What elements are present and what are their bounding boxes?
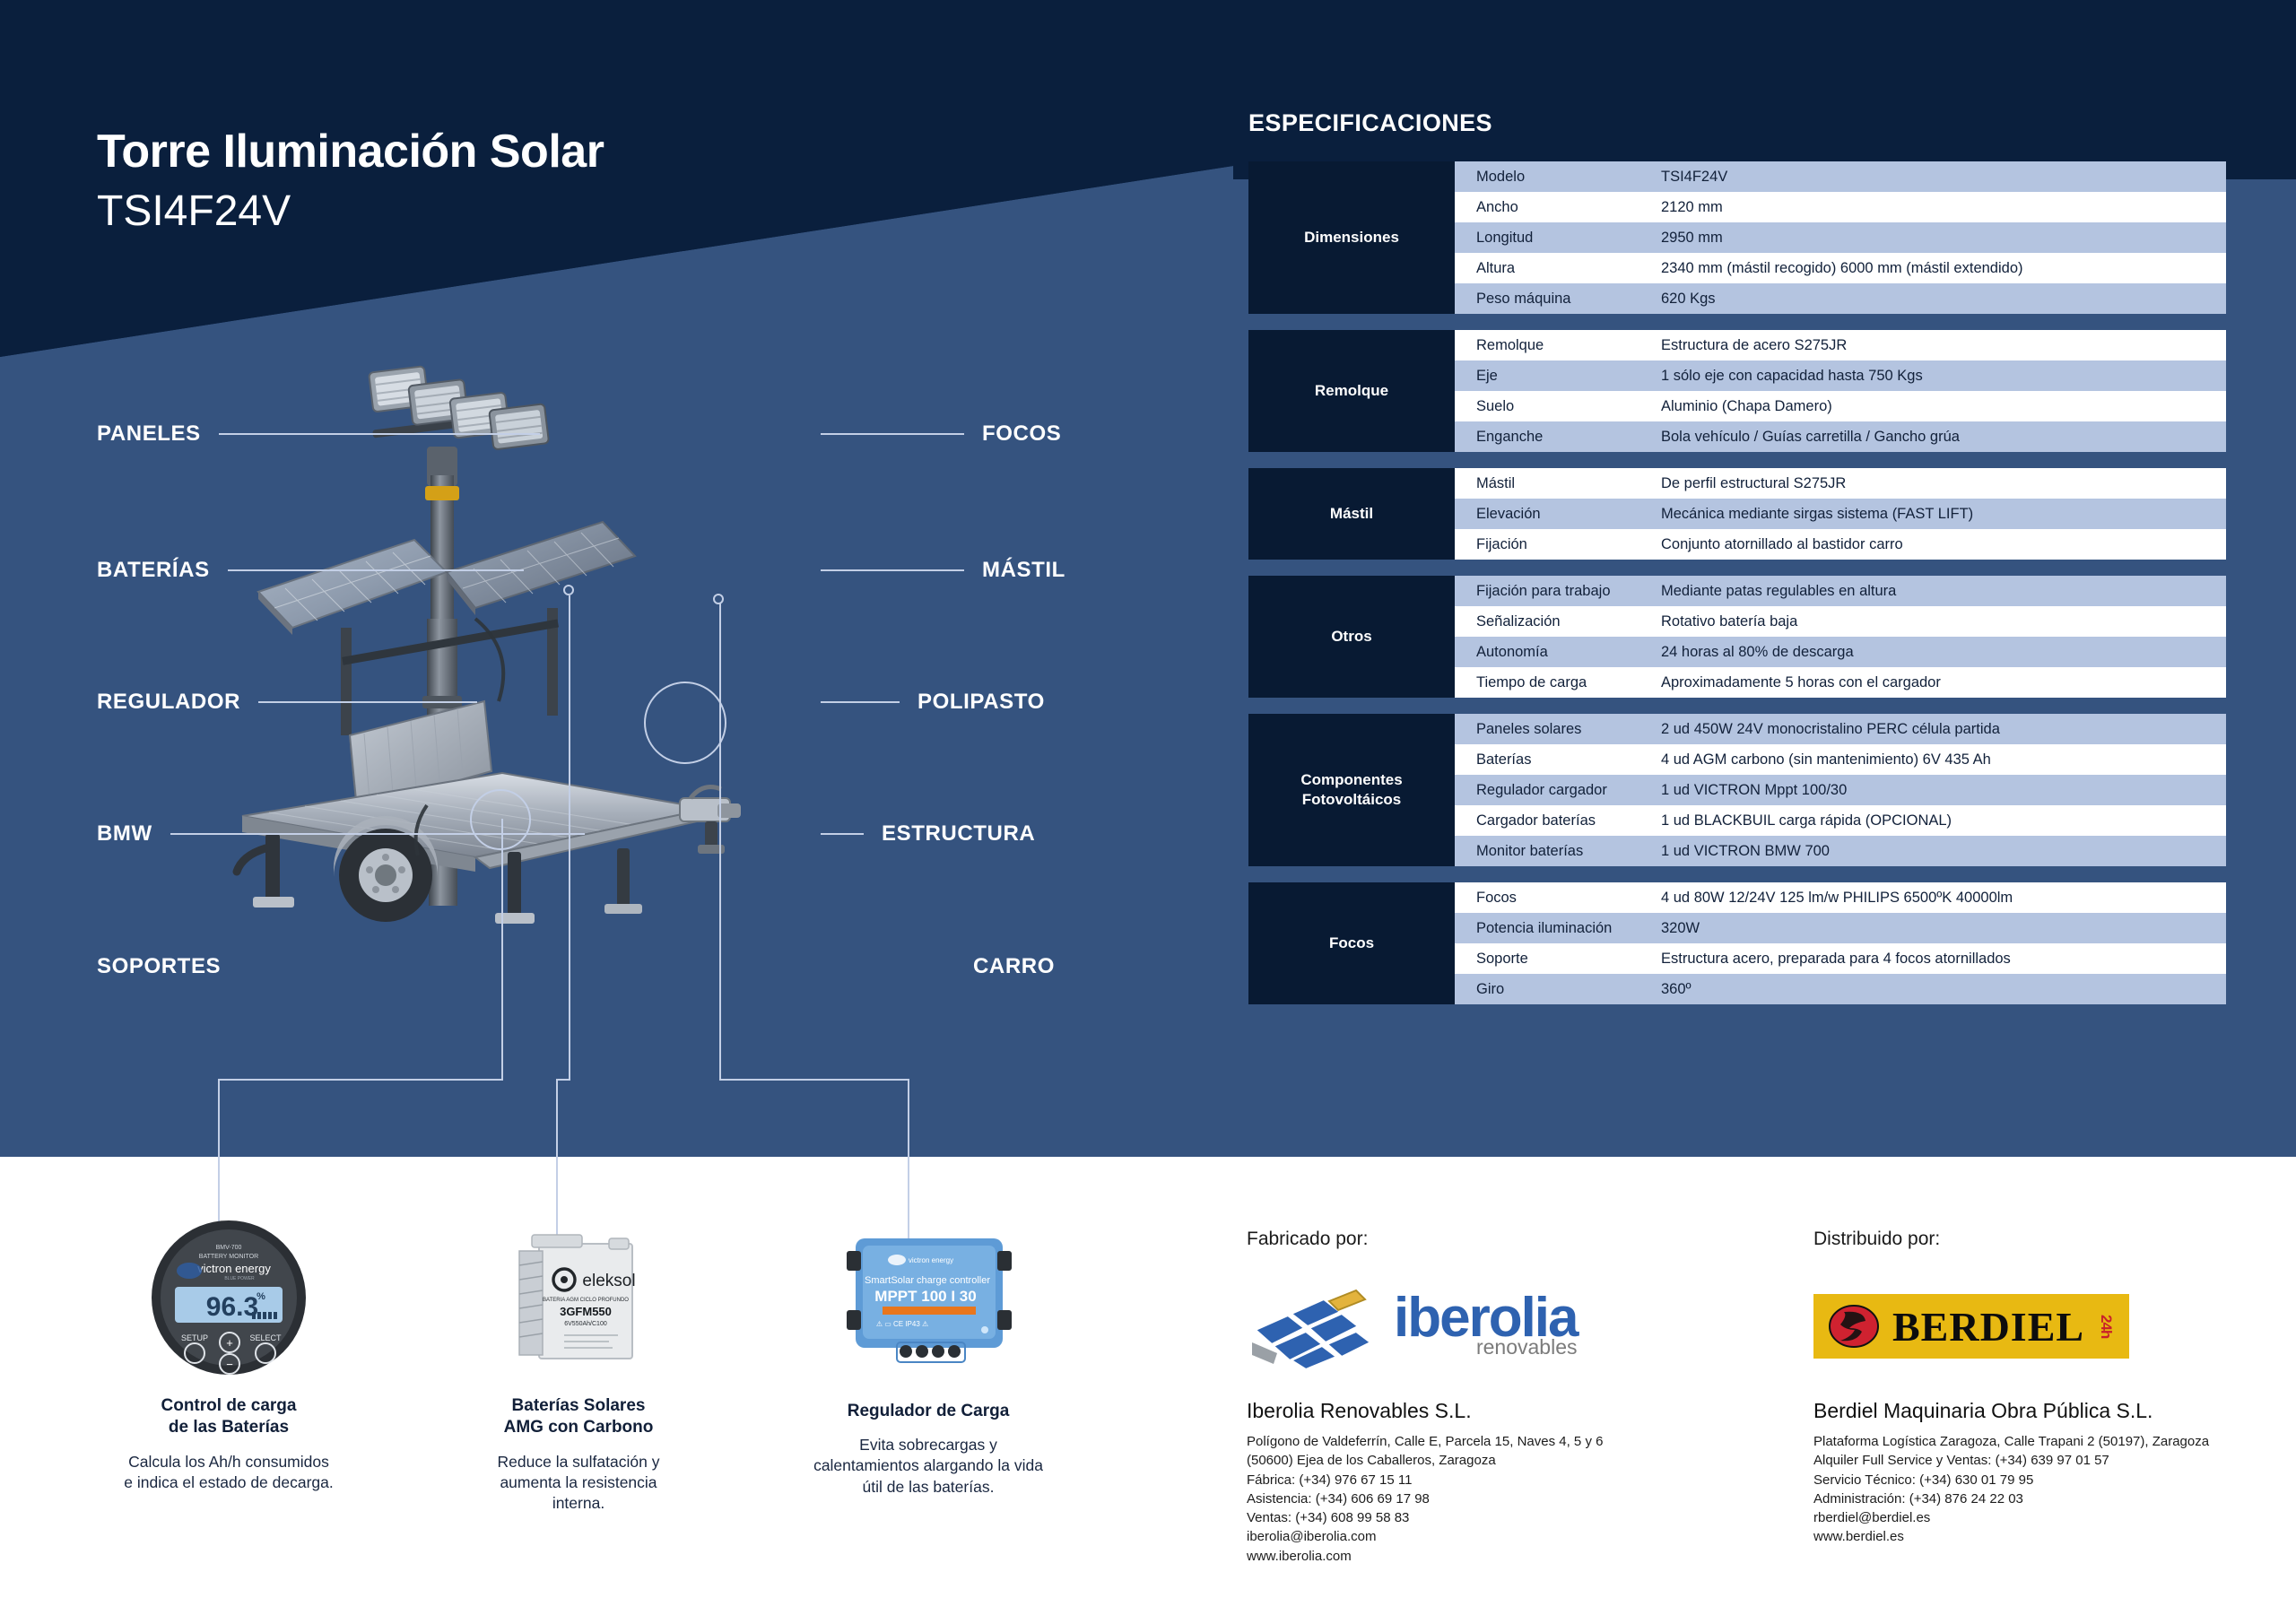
solar-panel-left (258, 540, 447, 635)
spec-category-label: Mástil (1248, 468, 1455, 560)
marker-dot-baterias (563, 585, 574, 595)
card-desc-mppt: Evita sobrecargas y calentamientos alarg… (753, 1435, 1103, 1497)
manufacturer-kicker: Fabricado por: (1247, 1229, 1821, 1250)
spec-row: Giro360º (1455, 974, 2226, 1004)
spec-key: Mástil (1455, 475, 1661, 492)
spec-category-label: Otros (1248, 576, 1455, 698)
connector-regulador-horizontal (719, 1079, 909, 1081)
spec-group: Componentes FotovoltáicosPaneles solares… (1248, 714, 2226, 866)
berdiel-wordmark: BERDIEL (1892, 1303, 2084, 1350)
contact-line: Servicio Técnico: (+34) 630 01 79 95 (1813, 1471, 2280, 1489)
leader-line-regulador (258, 701, 477, 703)
product-card-bmv: BMV-700 BATTERY MONITOR victron energy B… (54, 1215, 404, 1514)
spec-key: Soporte (1455, 951, 1661, 968)
spec-value: 360º (1661, 981, 2226, 998)
callout-regulador: REGULADOR (97, 690, 477, 715)
spec-key: Remolque (1455, 337, 1661, 354)
contact-line: Ventas: (+34) 608 99 58 83 (1247, 1508, 1821, 1527)
marker-dot-mastil (713, 594, 724, 604)
spec-row: ElevaciónMecánica mediante sirgas sistem… (1455, 499, 2226, 529)
contact-line: Asistencia: (+34) 606 69 17 98 (1247, 1489, 1821, 1508)
berdiel-logo: BERDIEL 24h (1813, 1273, 2280, 1379)
callout-label-paneles: PANELES (97, 421, 201, 447)
spec-rows: Fijación para trabajoMediante patas regu… (1455, 576, 2226, 698)
spec-row: Baterías4 ud AGM carbono (sin mantenimie… (1455, 744, 2226, 775)
spec-row: Focos4 ud 80W 12/24V 125 lm/w PHILIPS 65… (1455, 882, 2226, 913)
spec-key: Monitor baterías (1455, 843, 1661, 860)
contact-line: Administración: (+34) 876 24 22 03 (1813, 1489, 2280, 1508)
spec-row: SueloAluminio (Chapa Damero) (1455, 391, 2226, 421)
callout-label-estructura: ESTRUCTURA (882, 821, 1035, 847)
spec-value: 1 ud VICTRON Mppt 100/30 (1661, 782, 2226, 799)
spec-group: RemolqueRemolqueEstructura de acero S275… (1248, 330, 2226, 452)
spec-key: Regulador cargador (1455, 782, 1661, 799)
solar-light-tower-svg (206, 350, 924, 995)
spec-row: SeñalizaciónRotativo batería baja (1455, 606, 2226, 637)
spec-category-label: Remolque (1248, 330, 1455, 452)
spec-value: Aproximadamente 5 horas con el cargador (1661, 674, 2226, 691)
spec-row: SoporteEstructura acero, preparada para … (1455, 943, 2226, 974)
mppt-controller-image: victron energy SmartSolar charge control… (753, 1215, 1103, 1381)
callout-label-regulador: REGULADOR (97, 690, 240, 715)
spec-row: Monitor baterías1 ud VICTRON BMW 700 (1455, 836, 2226, 866)
victron-mppt-svg: victron energy SmartSolar charge control… (832, 1215, 1025, 1381)
spec-key: Señalización (1455, 613, 1661, 630)
card-title-battery-line2: AMG con Carbono (404, 1417, 753, 1438)
spec-key: Altura (1455, 260, 1661, 277)
product-card-mppt: victron energy SmartSolar charge control… (753, 1215, 1103, 1514)
product-cards: BMV-700 BATTERY MONITOR victron energy B… (54, 1215, 1112, 1514)
callout-polipasto: POLIPASTO (821, 690, 1045, 715)
contact-line: Plataforma Logística Zaragoza, Calle Tra… (1813, 1432, 2280, 1451)
svg-text:−: − (226, 1358, 233, 1371)
callout-soportes: SOPORTES (97, 954, 221, 979)
contact-line: (50600) Ejea de los Caballeros, Zaragoza (1247, 1451, 1821, 1470)
leader-line-mastil (821, 569, 964, 571)
card-title-mppt: Regulador de Carga (753, 1401, 1103, 1422)
spec-value: Rotativo batería baja (1661, 613, 2226, 630)
spec-value: TSI4F24V (1661, 169, 2226, 186)
connector-regulador-riser (719, 603, 721, 1080)
spec-rows: MástilDe perfil estructural S275JRElevac… (1455, 468, 2226, 560)
spec-rows: RemolqueEstructura de acero S275JREje1 s… (1455, 330, 2226, 452)
spec-value: 2120 mm (1661, 199, 2226, 216)
spec-value: 24 horas al 80% de descarga (1661, 644, 2226, 661)
spec-value: 4 ud AGM carbono (sin mantenimiento) 6V … (1661, 751, 2226, 769)
distributor-kicker: Distribuido por: (1813, 1229, 2280, 1250)
callout-label-soportes: SOPORTES (97, 954, 221, 979)
spec-key: Giro (1455, 981, 1661, 998)
spec-row: Altura2340 mm (mástil recogido) 6000 mm … (1455, 253, 2226, 283)
callout-label-baterias: BATERÍAS (97, 558, 210, 583)
leader-line-focos (821, 433, 964, 435)
spec-rows: Paneles solares2 ud 450W 24V monocristal… (1455, 714, 2226, 866)
svg-text:BLUE POWER: BLUE POWER (224, 1276, 255, 1281)
card-title-mppt-line1: Regulador de Carga (753, 1401, 1103, 1422)
specifications-table: DimensionesModeloTSI4F24VAncho2120 mmLon… (1248, 161, 2226, 1020)
spec-row: ModeloTSI4F24V (1455, 161, 2226, 192)
callout-estructura: ESTRUCTURA (821, 821, 1035, 847)
bmv-monitor-image: BMV-700 BATTERY MONITOR victron energy B… (54, 1215, 404, 1381)
callout-carro: CARRO (973, 954, 1055, 979)
spec-value: 2950 mm (1661, 230, 2226, 247)
svg-text:3GFM550: 3GFM550 (560, 1305, 612, 1318)
svg-text:victron energy: victron energy (197, 1262, 271, 1275)
manufacturer-block: Fabricado por: iberolia (1247, 1229, 1821, 1566)
contact-line: iberolia@iberolia.com (1247, 1527, 1821, 1546)
svg-text:BMV-700: BMV-700 (215, 1245, 241, 1251)
svg-text:MPPT 100 I 30: MPPT 100 I 30 (874, 1288, 976, 1305)
spec-value: 620 Kgs (1661, 291, 2226, 308)
connector-bmw-horizontal (218, 1079, 503, 1081)
connector-bmw-riser (501, 819, 503, 1081)
eleksol-battery-image: eleksol BATERIA AGM CICLO PROFUNDO 3GFM5… (404, 1215, 753, 1381)
spec-value: Aluminio (Chapa Damero) (1661, 398, 2226, 415)
spec-key: Potencia iluminación (1455, 920, 1661, 937)
manufacturer-contact-lines: Polígono de Valdeferrín, Calle E, Parcel… (1247, 1432, 1821, 1566)
spec-key: Ancho (1455, 199, 1661, 216)
contact-line: rberdiel@berdiel.es (1813, 1508, 2280, 1527)
iberolia-panel-icon (1247, 1283, 1381, 1369)
spec-key: Tiempo de carga (1455, 674, 1661, 691)
spec-row: Paneles solares2 ud 450W 24V monocristal… (1455, 714, 2226, 744)
contact-line: Alquiler Full Service y Ventas: (+34) 63… (1813, 1451, 2280, 1470)
spec-key: Elevación (1455, 506, 1661, 523)
spec-key: Cargador baterías (1455, 812, 1661, 829)
marker-ring-polipasto (644, 682, 726, 764)
svg-text:SETUP: SETUP (180, 1333, 207, 1342)
contact-line: Polígono de Valdeferrín, Calle E, Parcel… (1247, 1432, 1821, 1451)
contact-line: Fábrica: (+34) 976 67 15 11 (1247, 1471, 1821, 1489)
spec-key: Paneles solares (1455, 721, 1661, 738)
spec-value: 1 sólo eje con capacidad hasta 750 Kgs (1661, 368, 2226, 385)
svg-text:BATERIA AGM CICLO PROFUNDO: BATERIA AGM CICLO PROFUNDO (543, 1298, 629, 1303)
svg-text:96.3: 96.3 (205, 1292, 257, 1322)
leader-line-polipasto (821, 701, 900, 703)
berdiel-emblem-icon (1828, 1303, 1880, 1350)
spec-value: 2340 mm (mástil recogido) 6000 mm (másti… (1661, 260, 2226, 277)
callout-focos: FOCOS (821, 421, 1061, 447)
product-illustration (206, 350, 924, 995)
background-dark-right-strip (1233, 0, 2296, 179)
marker-ring-bmw (470, 789, 531, 850)
spec-key: Baterías (1455, 751, 1661, 769)
spec-row: Ancho2120 mm (1455, 192, 2226, 222)
product-card-battery: eleksol BATERIA AGM CICLO PROFUNDO 3GFM5… (404, 1215, 753, 1514)
spec-value: Estructura acero, preparada para 4 focos… (1661, 951, 2226, 968)
spec-value: Conjunto atornillado al bastidor carro (1661, 536, 2226, 553)
callout-label-carro: CARRO (973, 954, 1055, 979)
eleksol-battery-svg: eleksol BATERIA AGM CICLO PROFUNDO 3GFM5… (496, 1215, 662, 1381)
spec-group: OtrosFijación para trabajoMediante patas… (1248, 576, 2226, 698)
spec-key: Autonomía (1455, 644, 1661, 661)
leader-line-baterias (228, 569, 524, 571)
spec-key: Peso máquina (1455, 291, 1661, 308)
spec-rows: ModeloTSI4F24VAncho2120 mmLongitud2950 m… (1455, 161, 2226, 314)
spec-value: Estructura de acero S275JR (1661, 337, 2226, 354)
spec-row: Longitud2950 mm (1455, 222, 2226, 253)
spec-key: Focos (1455, 890, 1661, 907)
spec-row: EngancheBola vehículo / Guías carretilla… (1455, 421, 2226, 452)
svg-text:eleksol: eleksol (582, 1272, 635, 1290)
distributor-contact-lines: Plataforma Logística Zaragoza, Calle Tra… (1813, 1432, 2280, 1547)
spec-row: Potencia iluminación320W (1455, 913, 2226, 943)
specifications-heading: ESPECIFICACIONES (1248, 109, 1492, 137)
manufacturer-name: Iberolia Renovables S.L. (1247, 1399, 1821, 1423)
svg-text:SmartSolar charge controller: SmartSolar charge controller (864, 1275, 989, 1286)
svg-text:+: + (226, 1336, 233, 1350)
svg-text:⚠ ▭ CE IP43 ⚠: ⚠ ▭ CE IP43 ⚠ (875, 1320, 927, 1328)
card-title-bmv-line1: Control de carga (54, 1395, 404, 1417)
trailer-hitch (680, 787, 741, 854)
svg-text:%: % (257, 1291, 265, 1302)
svg-text:BATTERY MONITOR: BATTERY MONITOR (198, 1254, 257, 1260)
spec-value: 2 ud 450W 24V monocristalino PERC célula… (1661, 721, 2226, 738)
spec-key: Enganche (1455, 429, 1661, 446)
spec-row: Eje1 sólo eje con capacidad hasta 750 Kg… (1455, 360, 2226, 391)
page-title: Torre Iluminación Solar (97, 126, 604, 178)
spec-value: Mecánica mediante sirgas sistema (FAST L… (1661, 506, 2226, 523)
spec-row: Cargador baterías1 ud BLACKBUIL carga rá… (1455, 805, 2226, 836)
spec-category-label: Focos (1248, 882, 1455, 1004)
spec-value: Mediante patas regulables en altura (1661, 583, 2226, 600)
support-leg-mid (604, 848, 642, 914)
spec-key: Modelo (1455, 169, 1661, 186)
callout-label-focos: FOCOS (982, 421, 1061, 447)
svg-text:6V550Ah/C100: 6V550Ah/C100 (564, 1321, 607, 1327)
spec-group: FocosFocos4 ud 80W 12/24V 125 lm/w PHILI… (1248, 882, 2226, 1004)
card-title-bmv-line2: de las Baterías (54, 1417, 404, 1438)
spec-value: 4 ud 80W 12/24V 125 lm/w PHILIPS 6500ºK … (1661, 890, 2226, 907)
contact-line: www.iberolia.com (1247, 1547, 1821, 1566)
spec-value: 1 ud BLACKBUIL carga rápida (OPCIONAL) (1661, 812, 2226, 829)
spec-value: De perfil estructural S275JR (1661, 475, 2226, 492)
spec-category-label: Componentes Fotovoltáicos (1248, 714, 1455, 866)
distributor-block: Distribuido por: BERDIEL 24h Berdiel Maq… (1813, 1229, 2280, 1547)
spec-row: Regulador cargador1 ud VICTRON Mppt 100/… (1455, 775, 2226, 805)
floodlight-head-group (369, 352, 549, 486)
spec-value: Bola vehículo / Guías carretilla / Ganch… (1661, 429, 2226, 446)
berdiel-24h-badge: 24h (2097, 1315, 2115, 1338)
callout-label-bmw: BMW (97, 821, 152, 847)
card-desc-battery: Reduce la sulfatación y aumenta la resis… (404, 1452, 753, 1514)
model-subtitle: TSI4F24V (97, 187, 604, 236)
spec-row: Fijación para trabajoMediante patas regu… (1455, 576, 2226, 606)
callout-label-polipasto: POLIPASTO (918, 690, 1045, 715)
spec-row: Tiempo de cargaAproximadamente 5 horas c… (1455, 667, 2226, 698)
spec-row: FijaciónConjunto atornillado al bastidor… (1455, 529, 2226, 560)
callout-label-mastil: MÁSTIL (982, 558, 1065, 583)
card-title-battery: Baterías Solares AMG con Carbono (404, 1395, 753, 1439)
card-desc-bmv: Calcula los Ah/h consumidos e indica el … (54, 1452, 404, 1493)
title-block: Torre Iluminación Solar TSI4F24V (97, 126, 604, 236)
spec-key: Eje (1455, 368, 1661, 385)
spec-row: Peso máquina620 Kgs (1455, 283, 2226, 314)
spec-value: 1 ud VICTRON BMW 700 (1661, 843, 2226, 860)
leader-line-paneles (219, 433, 540, 435)
spec-key: Longitud (1455, 230, 1661, 247)
spec-rows: Focos4 ud 80W 12/24V 125 lm/w PHILIPS 65… (1455, 882, 2226, 1004)
contact-line: www.berdiel.es (1813, 1527, 2280, 1546)
spec-category-label: Dimensiones (1248, 161, 1455, 314)
card-title-battery-line1: Baterías Solares (404, 1395, 753, 1417)
iberolia-logo: iberolia renovables (1247, 1273, 1821, 1379)
leader-line-estructura (821, 833, 864, 835)
victron-bmv-700-svg: BMV-700 BATTERY MONITOR victron energy B… (146, 1215, 312, 1381)
spec-row: MástilDe perfil estructural S275JR (1455, 468, 2226, 499)
svg-text:SELECT: SELECT (249, 1333, 282, 1342)
spec-row: Autonomía24 horas al 80% de descarga (1455, 637, 2226, 667)
callout-mastil: MÁSTIL (821, 558, 1065, 583)
spec-key: Fijación para trabajo (1455, 583, 1661, 600)
svg-text:victron energy: victron energy (908, 1256, 952, 1264)
callout-baterias: BATERÍAS (97, 558, 524, 583)
callout-paneles: PANELES (97, 421, 540, 447)
spec-group: MástilMástilDe perfil estructural S275JR… (1248, 468, 2226, 560)
spec-group: DimensionesModeloTSI4F24VAncho2120 mmLon… (1248, 161, 2226, 314)
spec-key: Fijación (1455, 536, 1661, 553)
spec-row: RemolqueEstructura de acero S275JR (1455, 330, 2226, 360)
distributor-name: Berdiel Maquinaria Obra Pública S.L. (1813, 1399, 2280, 1423)
spec-value: 320W (1661, 920, 2226, 937)
spec-key: Suelo (1455, 398, 1661, 415)
datasheet-page: Torre Iluminación Solar TSI4F24V ESPECIF… (0, 0, 2296, 1624)
card-title-bmv: Control de carga de las Baterías (54, 1395, 404, 1439)
